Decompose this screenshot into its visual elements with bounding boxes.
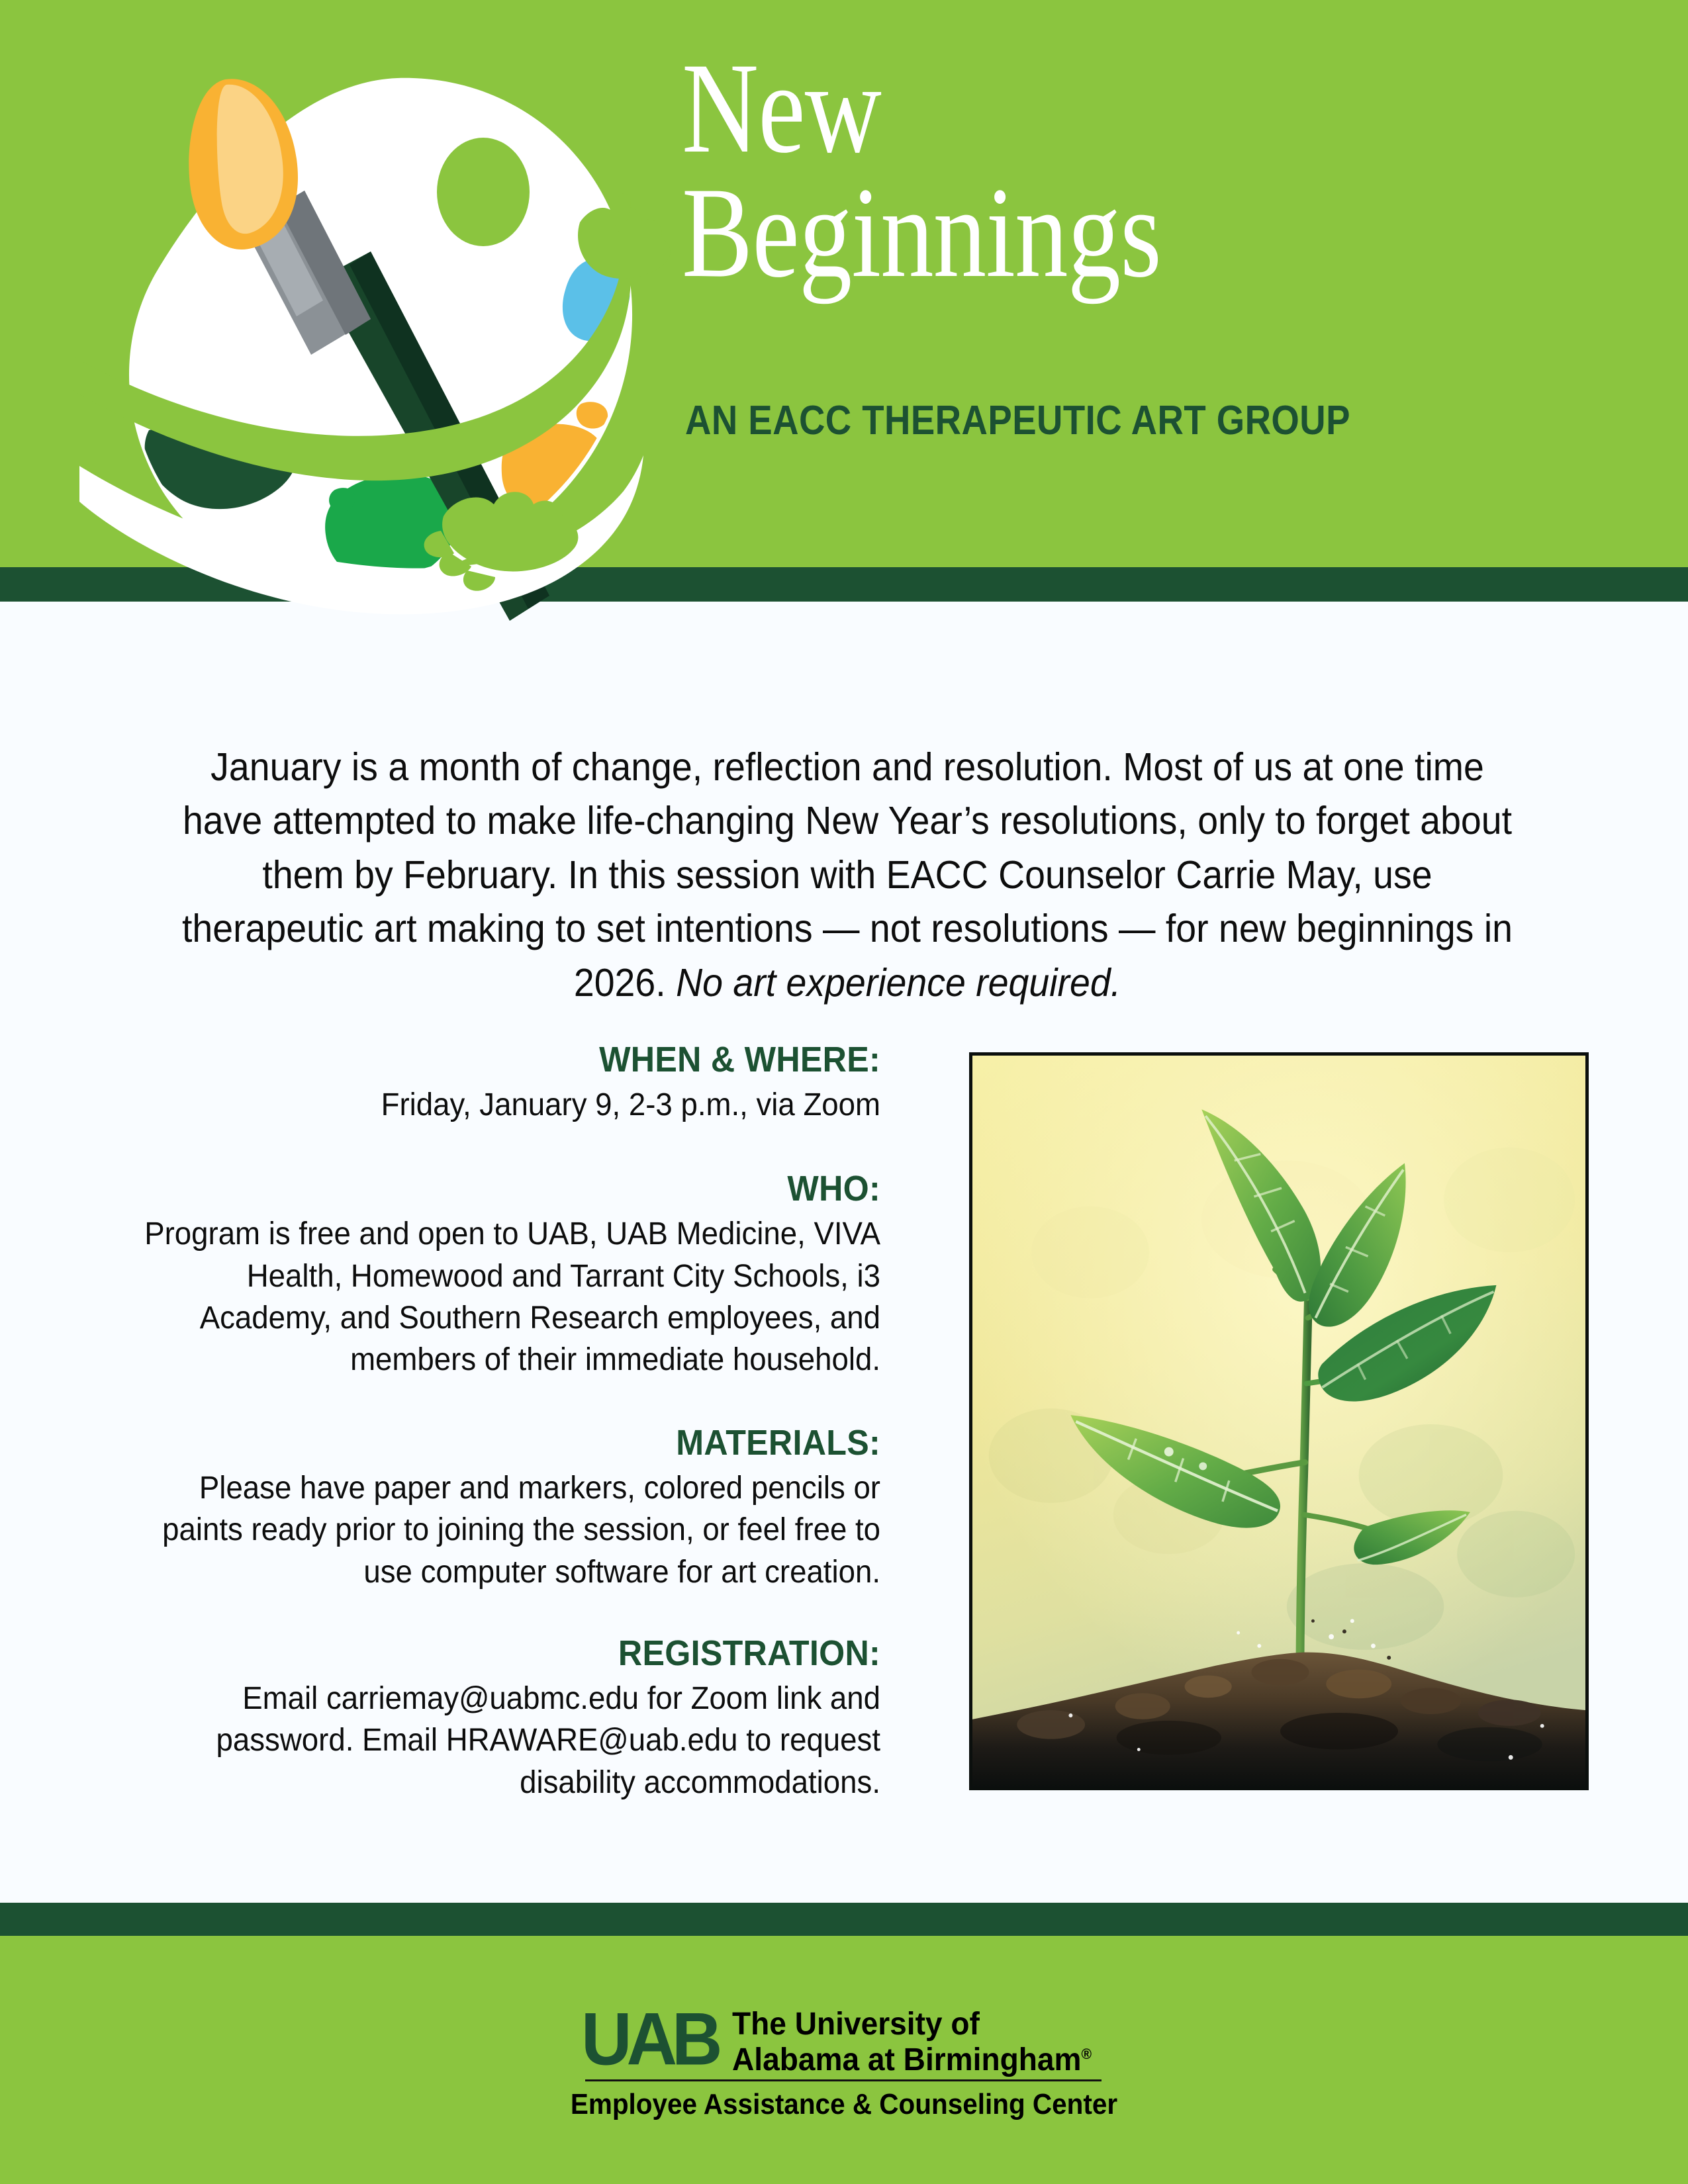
registration-body: Email carriemay@uabmc.edu for Zoom link … [126,1678,880,1803]
intro-italic-note: No art experience required. [676,961,1121,1005]
uab-name-line-2-wrapper: Alabama at Birmingham® [732,2042,1092,2078]
who-body: Program is free and open to UAB, UAB Med… [126,1213,880,1381]
intro-paragraph: January is a month of change, reflection… [169,741,1525,1010]
logo-divider [585,2079,1102,2081]
spacer [86,1126,880,1168]
materials-body: Please have paper and markers, colored p… [126,1467,880,1593]
title-line-2: Beginnings [682,171,1360,295]
seedling-photo [969,1052,1589,1790]
uab-full-name: The University of Alabama at Birmingham® [732,2005,1092,2078]
art-palette-illustration [86,60,708,642]
details-column: WHEN & WHERE: Friday, January 9, 2-3 p.m… [86,1039,880,1803]
materials-heading: MATERIALS: [142,1422,880,1463]
department-name: Employee Assistance & Counseling Center [68,2088,1620,2121]
title-line-1: New [682,46,1360,171]
flyer-page: New Beginnings AN EACC THERAPEUTIC ART G… [0,0,1688,2184]
spacer [86,1381,880,1422]
uab-name-line-2: Alabama at Birmingham [732,2042,1081,2077]
registration-heading: REGISTRATION: [142,1633,880,1674]
when-where-heading: WHEN & WHERE: [142,1039,880,1080]
footer-dark-green-rule [0,1903,1688,1936]
uab-logo: UAB The University of Alabama at Birming… [0,2005,1688,2078]
page-subtitle: AN EACC THERAPEUTIC ART GROUP [685,397,1419,444]
registered-trademark-icon: ® [1081,2046,1092,2062]
page-title: New Beginnings [682,46,1509,295]
who-heading: WHO: [142,1168,880,1209]
spacer [86,1593,880,1633]
when-where-body: Friday, January 9, 2-3 p.m., via Zoom [126,1084,880,1126]
uab-wordmark: UAB [581,2005,717,2075]
uab-name-line-1: The University of [732,2007,1092,2042]
